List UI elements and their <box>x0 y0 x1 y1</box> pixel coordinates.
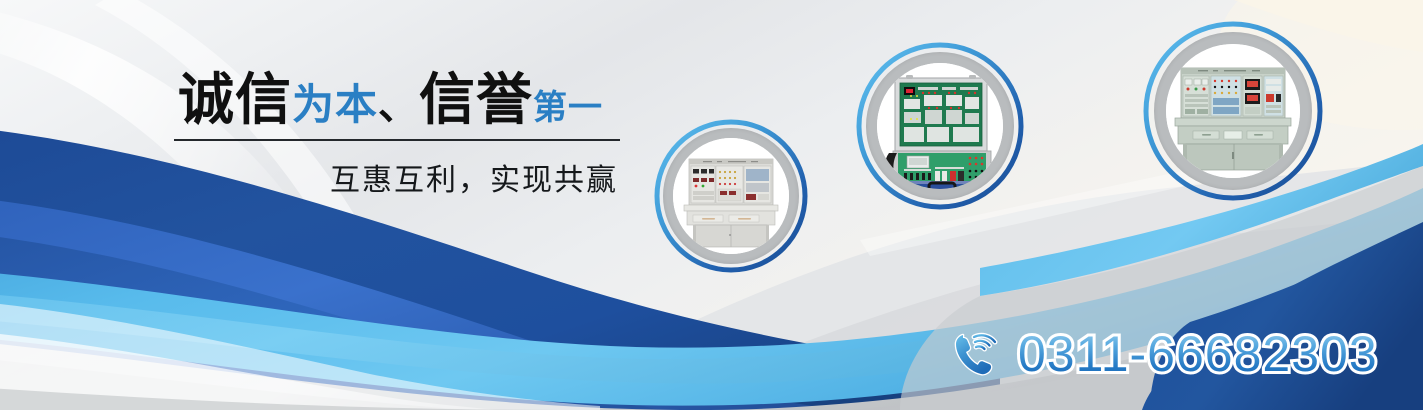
phone-number[interactable]: 0311-66682303 <box>1018 325 1378 383</box>
headline-part-diyi: 第一 <box>533 89 603 127</box>
electrical-workbench-illustration-2 <box>1166 44 1300 178</box>
phone-number-wrapper[interactable]: 0311-66682303 0311-66682303 <box>1018 325 1378 383</box>
product-circle-workbench-2[interactable] <box>1143 21 1323 201</box>
headline-divider <box>174 139 620 141</box>
subtitle: 互惠互利，实现共赢 <box>170 155 622 199</box>
product-circle-training-case[interactable] <box>856 42 1024 210</box>
product-circle-workbench-1[interactable] <box>654 119 808 273</box>
contact-block[interactable]: 0311-66682303 0311-66682303 <box>952 325 1378 383</box>
headline-part-weiben: 为本 <box>292 81 378 128</box>
headline-part-chengxin: 诚信 <box>178 68 292 131</box>
slogan-block: 诚信为本、信誉第一 互惠互利，实现共赢 <box>170 72 622 199</box>
headline-part-xinyu: 信誉 <box>419 68 533 131</box>
electrical-workbench-illustration-1 <box>673 138 789 254</box>
product-photo-1 <box>673 138 789 254</box>
portable-training-case-illustration <box>877 63 1003 189</box>
headline: 诚信为本、信誉第一 <box>170 72 622 128</box>
product-photo-2 <box>877 63 1003 189</box>
phone-call-icon <box>952 328 1004 380</box>
product-photo-3 <box>1166 44 1300 178</box>
headline-dun-separator: 、 <box>378 84 419 128</box>
promotional-banner: 诚信为本、信誉第一 互惠互利，实现共赢 <box>0 0 1423 410</box>
